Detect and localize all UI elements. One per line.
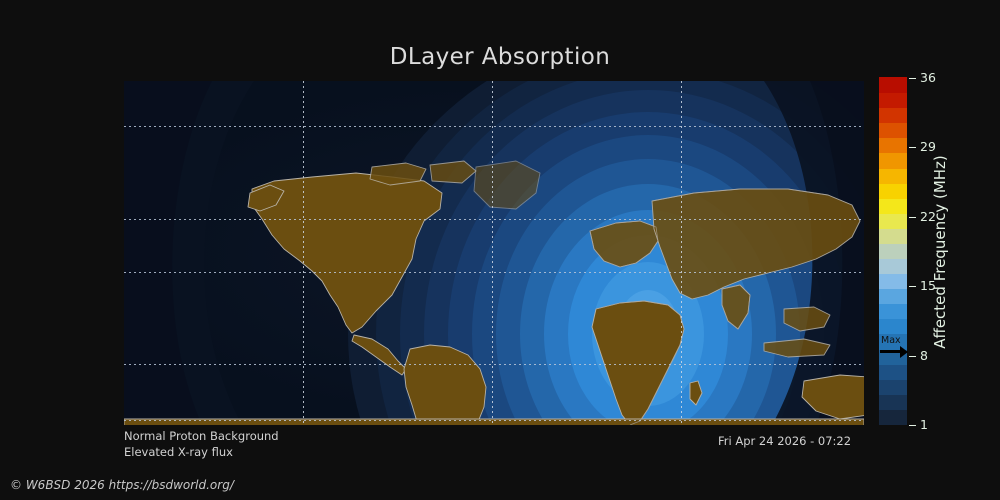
- colorbar-band: [879, 319, 907, 335]
- gridline-lat-30n: [124, 219, 864, 220]
- colorbar-band: [879, 168, 907, 184]
- colorbar-band: [879, 364, 907, 380]
- gridline-lon-90e: [681, 81, 682, 425]
- colorbar-band: [879, 289, 907, 305]
- colorbar-max-marker: Max: [879, 338, 907, 364]
- max-marker-label: Max: [881, 336, 901, 346]
- colorbar-band: [879, 77, 907, 93]
- colorbar-band: [879, 153, 907, 169]
- gridline-lat-60s: [124, 420, 864, 421]
- colorbar-band: [879, 108, 907, 124]
- status-note-proton: Normal Proton Background: [124, 429, 279, 443]
- colorbar-tick: [909, 217, 916, 218]
- colorbar-tick: [909, 147, 916, 148]
- colorbar-band: [879, 409, 907, 425]
- app-root: DLayer Absorption: [0, 0, 1000, 500]
- colorbar-band: [879, 138, 907, 154]
- colorbar-band: [879, 228, 907, 244]
- colorbar-band: [879, 183, 907, 199]
- colorbar-tick: [909, 425, 916, 426]
- page-title: DLayer Absorption: [0, 44, 1000, 70]
- gridline-lat-60n: [124, 126, 864, 127]
- colorbar-band: [879, 274, 907, 290]
- colorbar-band: [879, 258, 907, 274]
- map-canvas: [124, 81, 864, 425]
- gridline-lat-30s: [124, 364, 864, 365]
- colorbar-band: [879, 123, 907, 139]
- status-note-xray: Elevated X-ray flux: [124, 445, 233, 459]
- colorbar-band: [879, 243, 907, 259]
- colorbar-band: [879, 93, 907, 109]
- timestamp: Fri Apr 24 2026 - 07:22: [718, 434, 851, 448]
- colorbar-tick: [909, 286, 916, 287]
- gridline-lon-0: [492, 81, 493, 425]
- colorbar-tick: [909, 78, 916, 79]
- copyright-notice: © W6BSD 2026 https://bsdworld.org/: [10, 478, 234, 492]
- world-map[interactable]: [124, 81, 864, 425]
- max-marker-arrow-head: [900, 346, 908, 358]
- colorbar-band: [879, 198, 907, 214]
- colorbar-band: [879, 394, 907, 410]
- colorbar-axis-title: Affected Frequency (MHz): [925, 78, 955, 425]
- colorbar-band: [879, 379, 907, 395]
- gridline-lat-equator: [124, 272, 864, 273]
- colorbar[interactable]: 1815222936 Max: [879, 78, 907, 425]
- colorbar-tick: [909, 356, 916, 357]
- colorbar-band: [879, 304, 907, 320]
- gridline-lon-90w: [303, 81, 304, 425]
- max-marker-arrow-shaft: [880, 350, 902, 353]
- colorbar-band: [879, 213, 907, 229]
- colorbar-gradient: [879, 78, 907, 425]
